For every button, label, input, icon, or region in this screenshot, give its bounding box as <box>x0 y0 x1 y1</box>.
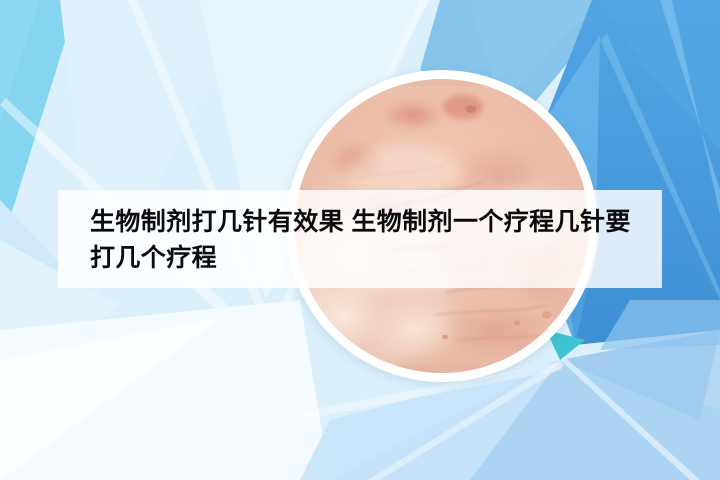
header-image-canvas: 生物制剂打几针有效果 生物制剂一个疗程几针要打几个疗程 <box>0 0 720 480</box>
page-title: 生物制剂打几针有效果 生物制剂一个疗程几针要打几个疗程 <box>90 204 650 276</box>
